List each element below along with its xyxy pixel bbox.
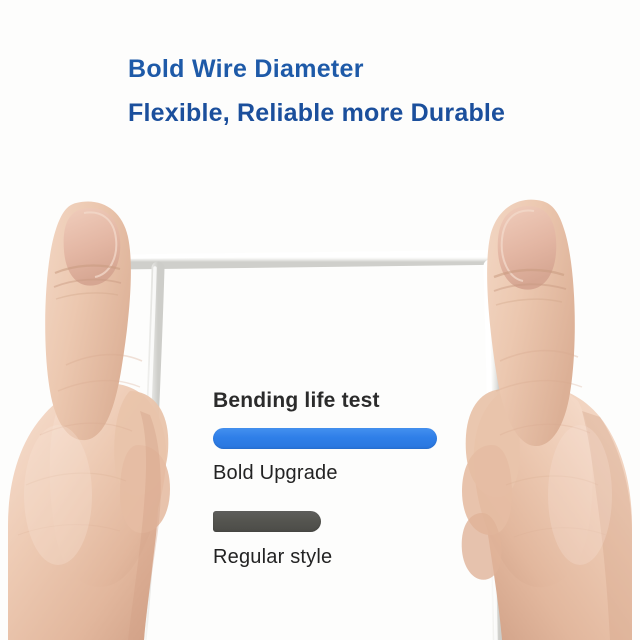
progress-bar-regular-style: [213, 511, 321, 532]
bar-label-regular-style: Regular style: [213, 546, 453, 569]
product-feature-image: Bold Wire Diameter Flexible, Reliable mo…: [0, 0, 640, 640]
bar-row-regular-style: Regular style: [213, 511, 453, 569]
headline-block: Bold Wire Diameter Flexible, Reliable mo…: [128, 52, 548, 130]
headline-line-2: Flexible, Reliable more Durable: [128, 96, 548, 130]
right-hand: [430, 195, 640, 640]
progress-bar-bold-upgrade: [213, 428, 437, 449]
bar-label-bold-upgrade: Bold Upgrade: [213, 462, 453, 485]
bending-life-test-panel: Bending life test Bold Upgrade Regular s…: [213, 388, 453, 569]
bending-life-test-title: Bending life test: [213, 388, 453, 414]
headline-line-1: Bold Wire Diameter: [128, 52, 548, 86]
left-hand: [0, 195, 215, 640]
bar-row-bold-upgrade: Bold Upgrade: [213, 428, 453, 485]
